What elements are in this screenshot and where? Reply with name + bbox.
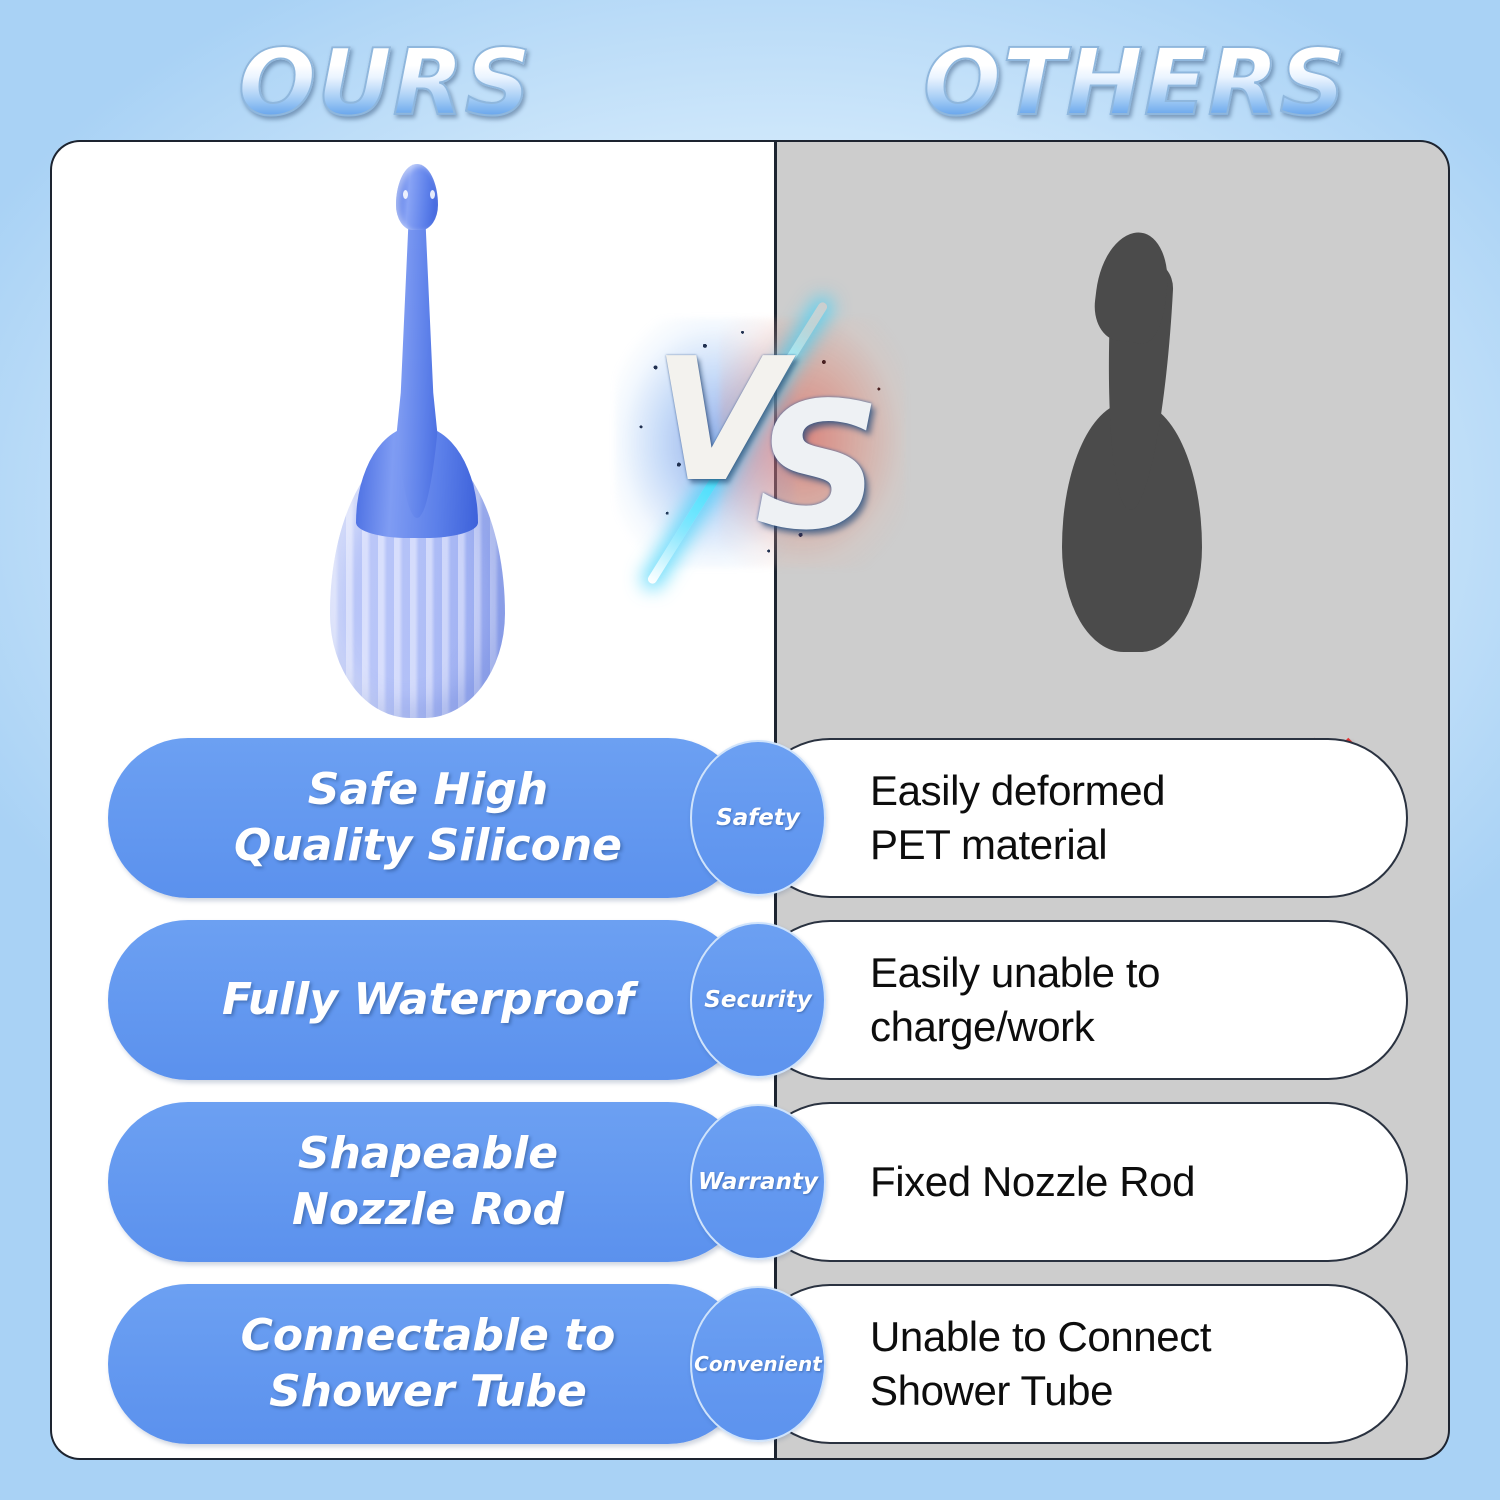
ours-feature-text: Connectable toShower Tube — [215, 1308, 642, 1420]
ours-feature-text: Safe HighQuality Silicone — [208, 762, 648, 874]
others-feature-pill: Unable to ConnectShower Tube — [750, 1284, 1408, 1444]
category-badge-label: Safety — [716, 805, 800, 831]
ours-title: OURS — [238, 28, 532, 138]
competitor-image — [1050, 232, 1215, 652]
others-header: OTHERS — [770, 28, 1500, 138]
category-badge-security: Security — [690, 922, 826, 1078]
feature-row: Connectable toShower Tube Unable to Conn… — [50, 1284, 1450, 1444]
category-badge-label: Convenient — [694, 1351, 822, 1377]
comparison-infographic: OURS OTHERS — [0, 0, 1500, 1500]
comparison-board: V S ✔ ✖ Safe HighQuality Silicone Easily… — [50, 140, 1450, 1460]
ours-feature-pill: Safe HighQuality Silicone — [108, 738, 748, 898]
headers-row: OURS OTHERS — [0, 28, 1500, 138]
vs-graphic: V S — [615, 308, 905, 578]
ours-header: OURS — [0, 28, 770, 138]
hero-area: V S ✔ ✖ — [50, 140, 1450, 740]
others-title: OTHERS — [923, 28, 1347, 138]
feature-rows: Safe HighQuality Silicone Easily deforme… — [50, 738, 1450, 1466]
ours-feature-text: Fully Waterproof — [196, 972, 660, 1028]
nozzle-hole-left — [403, 190, 408, 199]
others-feature-pill: Fixed Nozzle Rod — [750, 1102, 1408, 1262]
category-badge-label: Warranty — [698, 1169, 818, 1195]
ours-feature-pill: ShapeableNozzle Rod — [108, 1102, 748, 1262]
ours-feature-pill: Connectable toShower Tube — [108, 1284, 748, 1444]
nozzle-hole-right — [430, 190, 435, 199]
feature-row: ShapeableNozzle Rod Fixed Nozzle Rod War… — [50, 1102, 1450, 1262]
vs-letter-s: S — [755, 380, 881, 555]
others-feature-pill: Easily unable tocharge/work — [750, 920, 1408, 1080]
category-badge-warranty: Warranty — [690, 1104, 826, 1260]
feature-row: Safe HighQuality Silicone Easily deforme… — [50, 738, 1450, 898]
others-feature-pill: Easily deformedPET material — [750, 738, 1408, 898]
category-badge-safety: Safety — [690, 740, 826, 896]
category-badge-label: Security — [704, 987, 811, 1013]
product-image — [312, 158, 522, 718]
category-badge-convenient: Convenient — [690, 1286, 826, 1442]
ours-feature-text: ShapeableNozzle Rod — [266, 1126, 590, 1238]
feature-row: Fully Waterproof Easily unable tocharge/… — [50, 920, 1450, 1080]
ours-feature-pill: Fully Waterproof — [108, 920, 748, 1080]
